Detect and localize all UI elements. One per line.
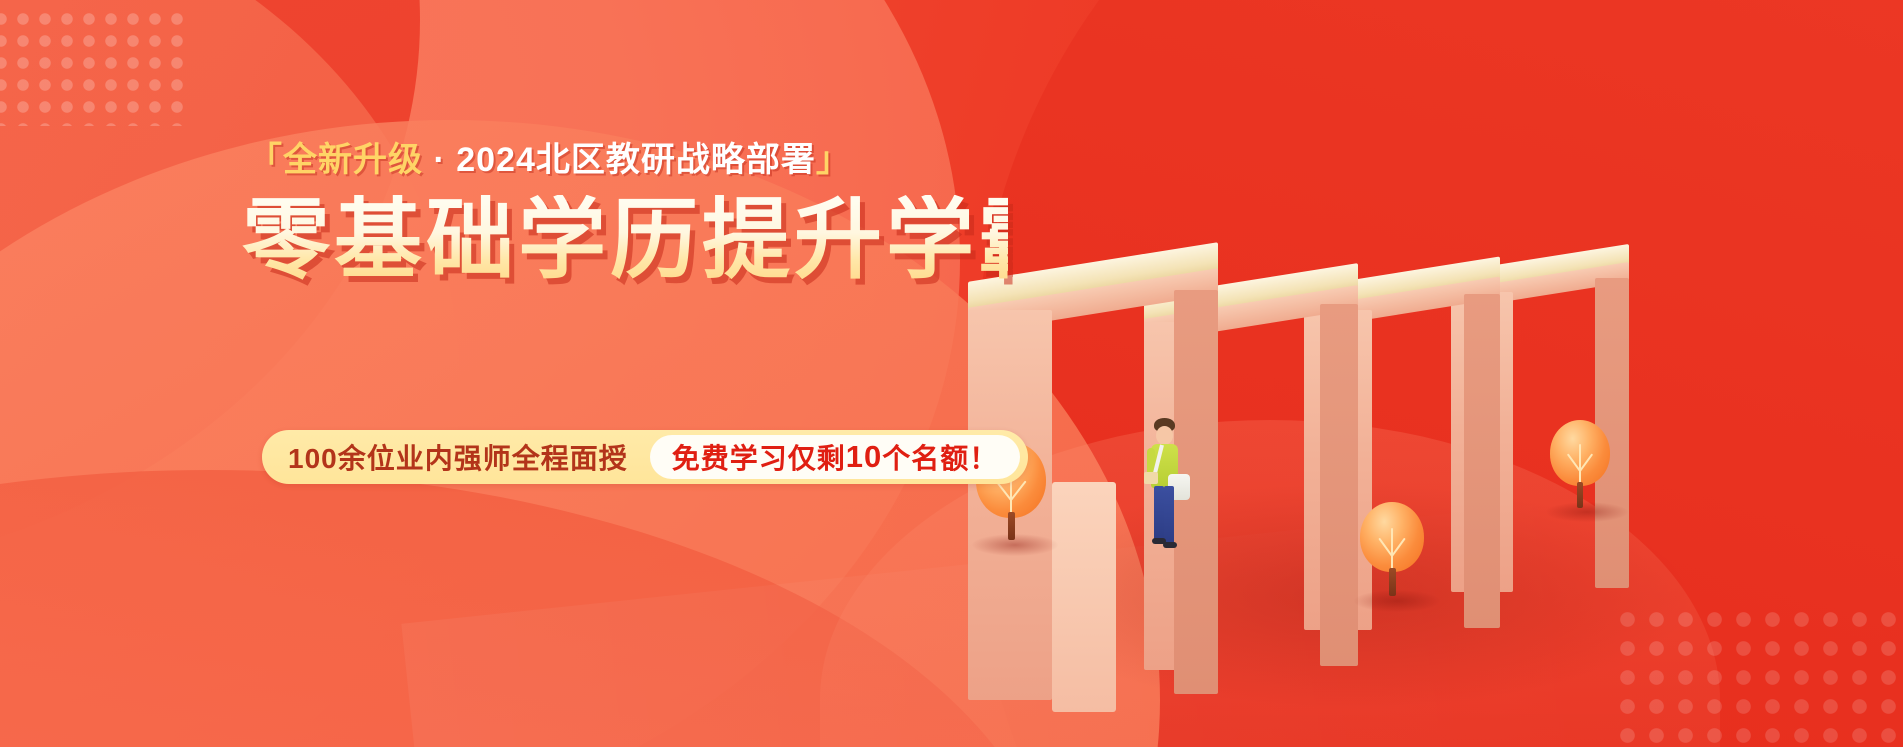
tree-left-trunk xyxy=(1008,512,1015,540)
tree-middle-shadow xyxy=(1354,590,1440,612)
student-leg-left xyxy=(1154,486,1164,540)
pill-capsule-number: 10 xyxy=(846,439,882,475)
banner-highlight-pill: 100余位业内强师全程面授 免费学习仅剩10个名额！ xyxy=(262,430,1028,484)
tree-right xyxy=(1550,420,1616,518)
student-head xyxy=(1156,426,1173,445)
book-gate-3-right-leg xyxy=(1464,294,1500,628)
tree-right-branch-main xyxy=(1579,444,1581,484)
subtitle-rest: 2024北区教研战略部署 xyxy=(456,141,816,179)
pill-capsule-prefix: 免费学习仅剩 xyxy=(672,437,846,477)
subtitle-separator: · xyxy=(423,141,456,179)
tree-right-trunk xyxy=(1577,482,1583,508)
banner-title: 零基础学历提升学霸班 xyxy=(242,195,1008,285)
tree-middle-trunk xyxy=(1389,568,1396,596)
banner-copy: 「全新升级 · 2024北区教研战略部署」 零基础学历提升学霸班 xyxy=(248,140,1008,293)
promo-banner: 「全新升级 · 2024北区教研战略部署」 零基础学历提升学霸班 100余位业内… xyxy=(0,0,1903,747)
subtitle-bracket-close: 」 xyxy=(816,141,851,179)
pill-capsule-suffix: 个名额！ xyxy=(882,437,998,477)
tree-middle xyxy=(1360,502,1430,606)
book-gate-1-door-panel xyxy=(1052,482,1116,712)
tree-right-shadow xyxy=(1546,502,1628,522)
subtitle-bracket-open: 「 xyxy=(248,141,283,179)
tree-middle-branch-main xyxy=(1391,528,1393,570)
student-leg-right xyxy=(1164,486,1174,544)
student-figure xyxy=(1130,418,1200,558)
pill-left-text: 100余位业内强师全程面授 xyxy=(288,437,650,477)
subtitle-highlight: 全新升级 xyxy=(283,141,423,179)
dot-grid-top-left-icon xyxy=(0,6,184,126)
tree-left-shadow xyxy=(972,534,1058,556)
banner-subtitle: 「全新升级 · 2024北区教研战略部署」 xyxy=(248,140,1008,181)
book-gate-2-right-leg xyxy=(1320,304,1358,666)
student-book xyxy=(1144,472,1158,484)
student-shoe-right xyxy=(1163,542,1177,548)
pill-capsule[interactable]: 免费学习仅剩10个名额！ xyxy=(650,435,1021,479)
